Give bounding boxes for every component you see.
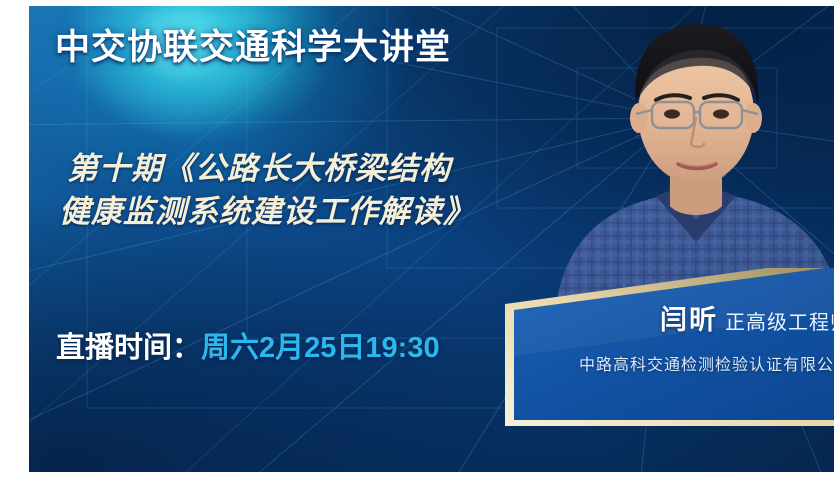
poster-artboard: 中交协联交通科学大讲堂 第十期《公路长大桥梁结构 健康监测系统建设工作解读》 直…: [29, 6, 834, 472]
speaker-name: 闫昕: [660, 305, 718, 335]
poster-headline: 中交协联交通科学大讲堂: [55, 29, 451, 68]
broadcast-time-label: 直播时间：: [56, 332, 201, 364]
broadcast-time-row: 直播时间：周六2月25日19:30: [56, 331, 440, 366]
live-stream-poster: 中交协联交通科学大讲堂 第十期《公路长大桥梁结构 健康监测系统建设工作解读》 直…: [0, 0, 840, 480]
speaker-organization: 中路高科交通检测检验认证有限公司: [579, 351, 834, 375]
subtitle-line-1: 第十期《公路长大桥梁结构: [67, 151, 451, 186]
speaker-card-text: 闫昕正高级工程师 中路高科交通检测检验认证有限公司: [497, 268, 834, 438]
speaker-card: 闫昕正高级工程师 中路高科交通检测检验认证有限公司: [497, 268, 834, 438]
poster-subtitle: 第十期《公路长大桥梁结构 健康监测系统建设工作解读》: [67, 148, 597, 234]
broadcast-time-value: 周六2月25日19:30: [201, 332, 440, 364]
subtitle-line-2: 健康监测系统建设工作解读》: [59, 191, 597, 234]
speaker-name-row: 闫昕正高级工程师: [660, 298, 834, 337]
speaker-title: 正高级工程师: [725, 312, 834, 334]
